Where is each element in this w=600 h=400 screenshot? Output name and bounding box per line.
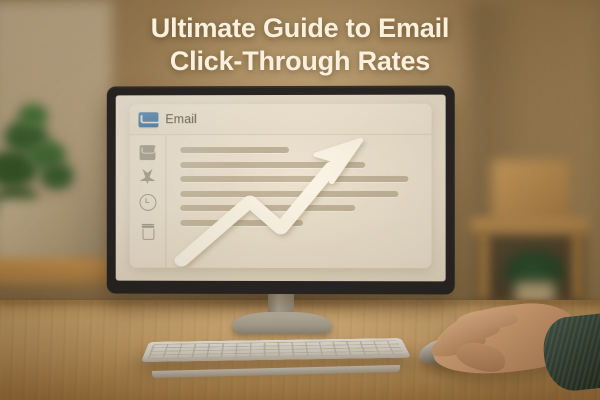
placeholder-line bbox=[180, 219, 303, 225]
clock-icon[interactable] bbox=[139, 194, 156, 211]
mail-envelope-icon bbox=[139, 112, 159, 127]
page-title-line-2: Click-Through Rates bbox=[0, 45, 600, 78]
shelf-leg bbox=[572, 230, 583, 300]
computer-monitor: Email bbox=[107, 86, 455, 295]
scene-photo: Email bbox=[0, 0, 600, 400]
monitor-screen: Email bbox=[116, 95, 446, 282]
trash-icon[interactable] bbox=[141, 224, 154, 239]
placeholder-line bbox=[180, 176, 408, 182]
left-shelf bbox=[0, 258, 110, 284]
star-icon[interactable] bbox=[140, 176, 156, 181]
email-app-body bbox=[130, 135, 432, 269]
email-app-window[interactable]: Email bbox=[130, 104, 432, 269]
email-app-header: Email bbox=[130, 104, 432, 136]
inbox-envelope-icon[interactable] bbox=[140, 145, 156, 160]
placeholder-line bbox=[180, 205, 355, 211]
shelf-container bbox=[492, 160, 570, 222]
keyboard-keys bbox=[148, 340, 405, 359]
email-sidebar bbox=[130, 135, 167, 268]
plant-leaf bbox=[40, 162, 74, 190]
page-title-line-1: Ultimate Guide to Email bbox=[151, 13, 449, 43]
monitor-stand bbox=[232, 312, 332, 334]
growth-arrow-chart bbox=[166, 135, 431, 269]
email-app-title: Email bbox=[165, 112, 197, 126]
email-content-area bbox=[166, 135, 431, 269]
shelf-surface bbox=[470, 218, 588, 233]
hand-on-mouse bbox=[404, 300, 600, 400]
growth-arrow-line bbox=[182, 140, 361, 261]
page-title: Ultimate Guide to Email Click-Through Ra… bbox=[0, 12, 600, 78]
placeholder-line bbox=[180, 161, 365, 167]
placeholder-line bbox=[180, 147, 289, 153]
plant-leaf bbox=[18, 104, 48, 128]
shelf-leg bbox=[478, 230, 489, 300]
placeholder-line bbox=[180, 190, 398, 196]
